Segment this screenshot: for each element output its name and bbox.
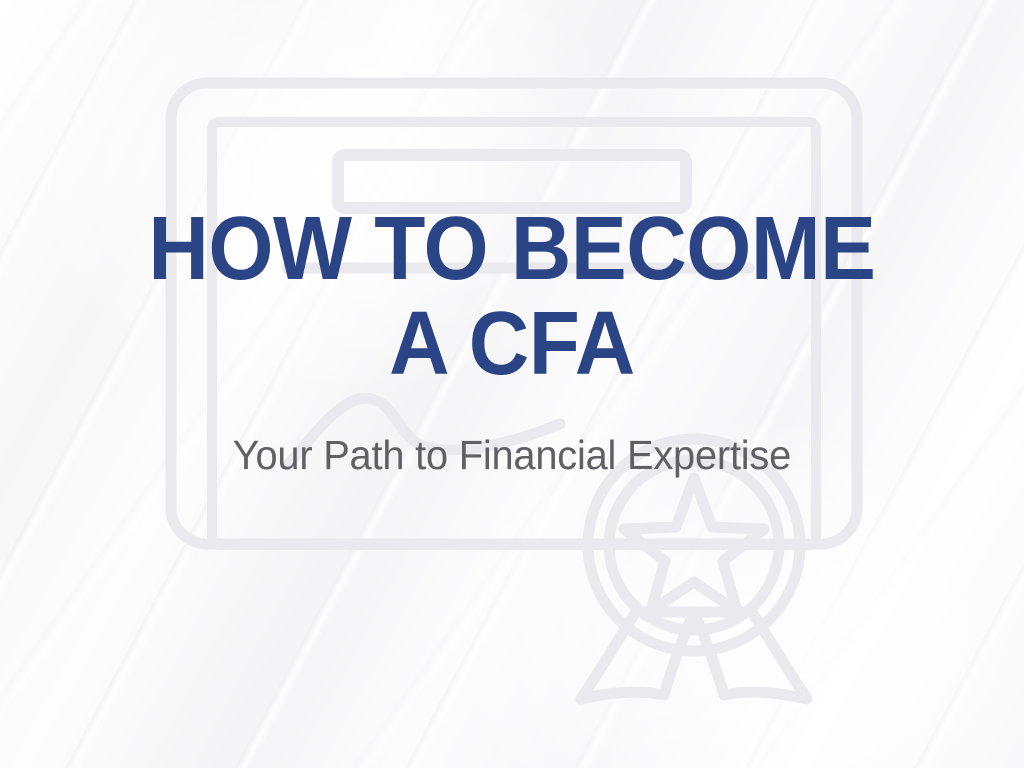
page-title-line-2: A CFA — [148, 300, 875, 388]
slide-canvas: HOW TO BECOME A CFA Your Path to Financi… — [0, 0, 1024, 768]
page-subtitle: Your Path to Financial Expertise — [133, 432, 891, 479]
page-title-line-1: HOW TO BECOME — [148, 205, 875, 293]
title-block: HOW TO BECOME A CFA Your Path to Financi… — [0, 0, 1024, 768]
